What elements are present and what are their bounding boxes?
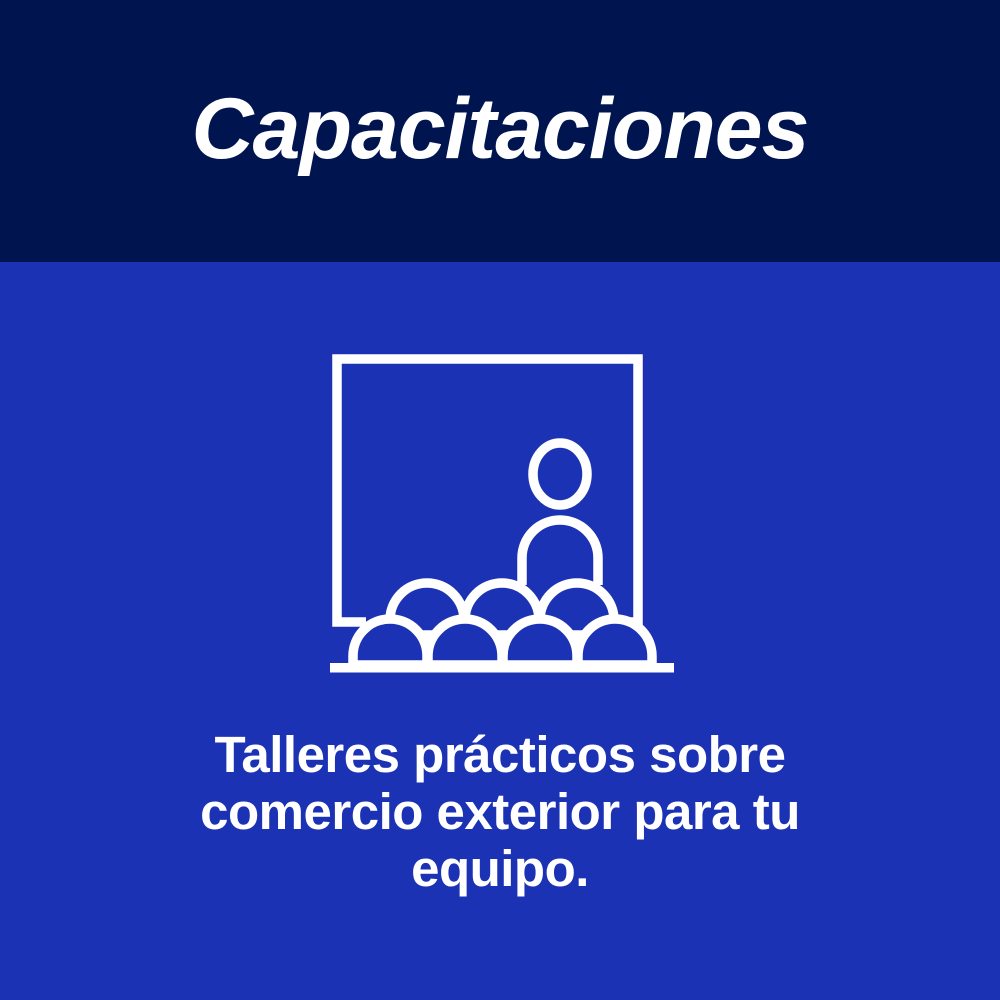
audience-head-front-3 (503, 619, 577, 665)
presenter-body-icon (522, 520, 598, 585)
header-band: Capacitaciones (0, 0, 1000, 262)
floor-line (330, 663, 674, 673)
presenter-head-icon (533, 443, 587, 505)
audience-back-row (390, 583, 614, 635)
caption-line-2: comercio exterior para tu (100, 783, 900, 840)
capacitaciones-card: Capacitaciones (0, 0, 1000, 1000)
audience-head-front-2 (428, 619, 502, 665)
caption-line-1: Talleres prácticos sobre (100, 726, 900, 783)
classroom-training-icon (300, 330, 700, 690)
audience-head-front-4 (578, 619, 652, 665)
caption-text: Talleres prácticos sobre comercio exteri… (100, 726, 900, 897)
classroom-training-icon-graphic (300, 330, 700, 690)
audience-head-front-1 (353, 619, 427, 665)
caption-line-3: equipo. (100, 840, 900, 897)
page-title: Capacitaciones (192, 86, 809, 172)
